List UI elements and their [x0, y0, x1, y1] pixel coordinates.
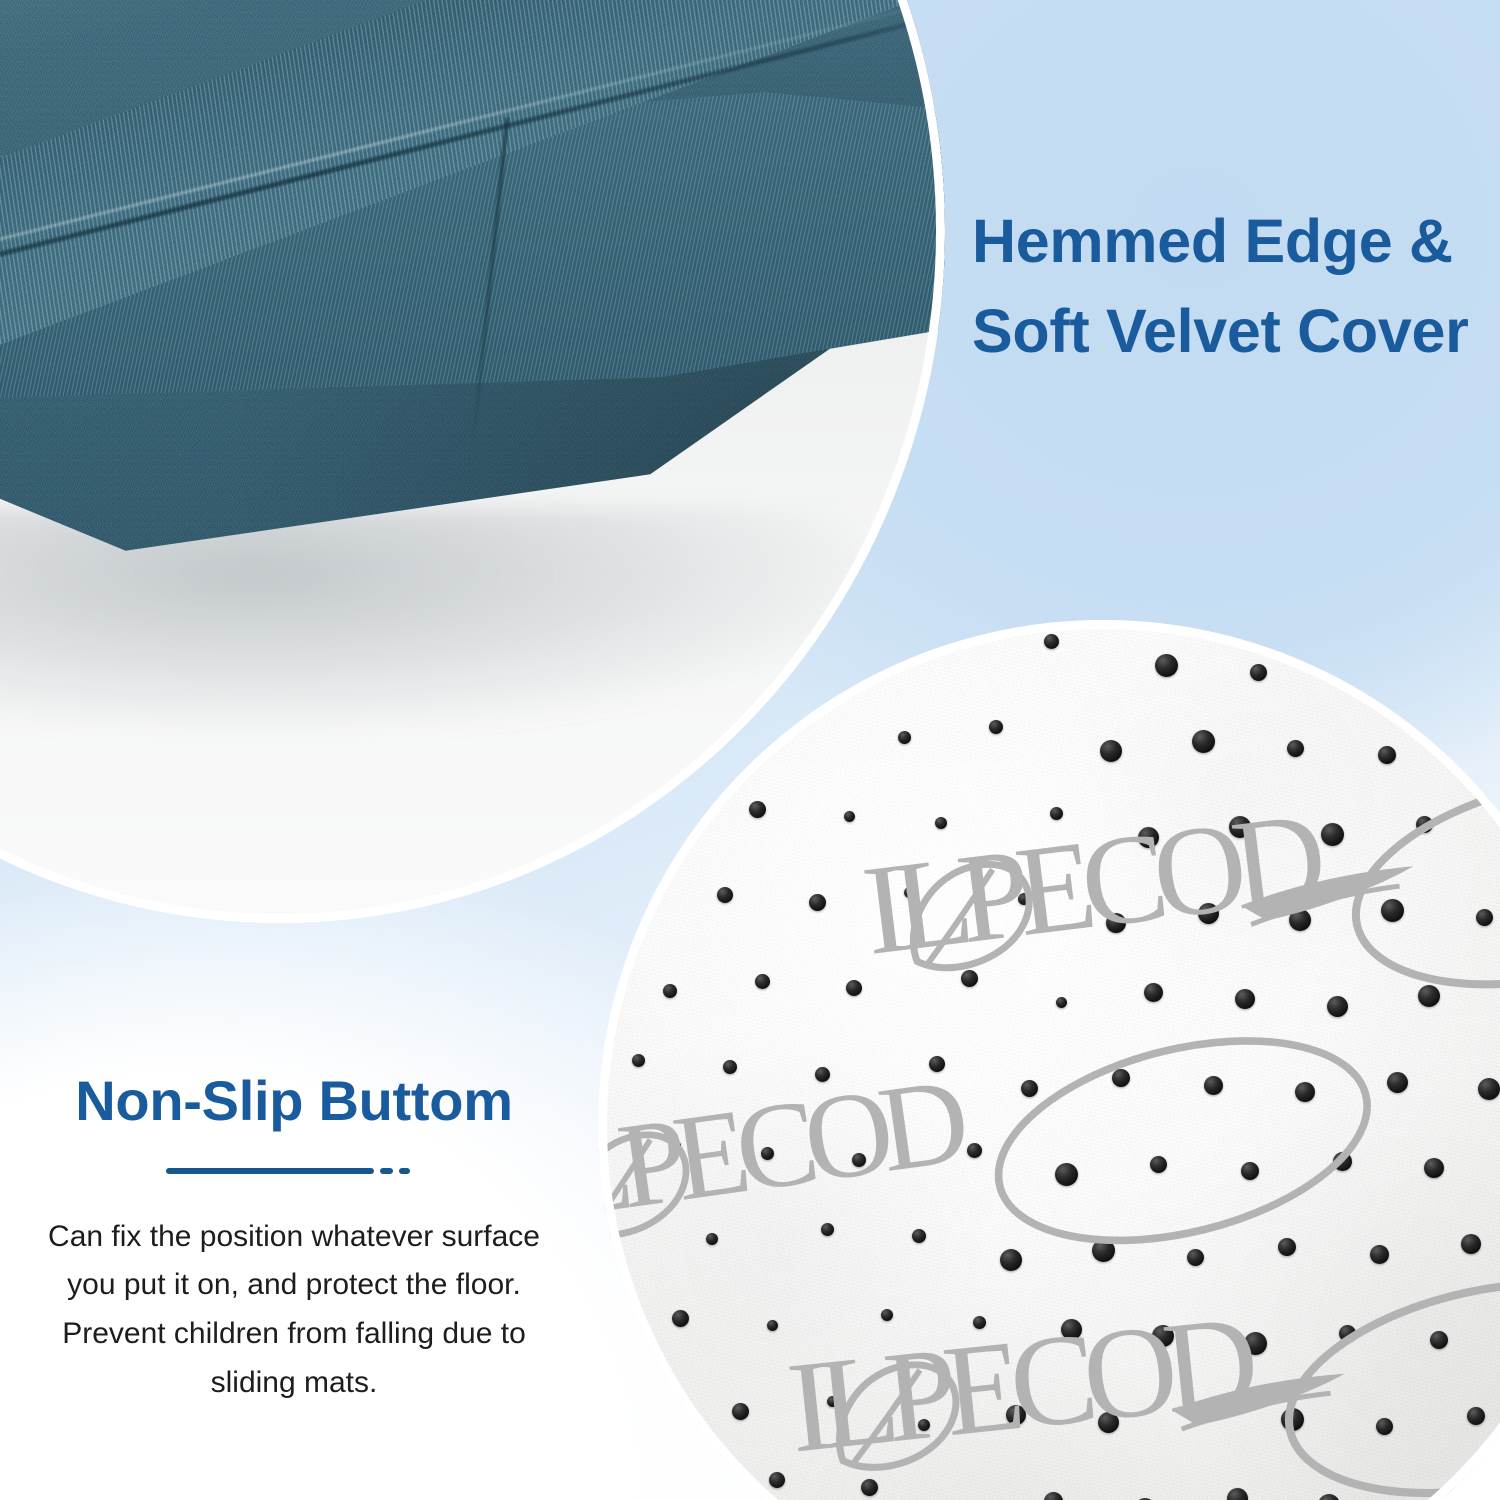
grip-dot — [1144, 983, 1163, 1002]
non-slip-body-line: you put it on, and protect the floor. — [67, 1268, 521, 1301]
non-slip-body-text: Can fix the position whatever surfaceyou… — [14, 1213, 574, 1407]
non-slip-mat-photo-circle: ILPECOD ILPECOD — [598, 620, 1500, 1500]
grip-dot — [846, 980, 862, 996]
hemmed-edge-heading-line1: Hemmed Edge & — [972, 207, 1453, 275]
divider-dash-2-icon — [399, 1168, 410, 1174]
grip-dot — [717, 887, 733, 903]
divider-line-icon — [166, 1168, 374, 1174]
grip-dot — [672, 1310, 689, 1327]
hemmed-edge-heading: Hemmed Edge & Soft Velvet Cover — [972, 196, 1492, 377]
grip-dot — [1370, 1245, 1389, 1264]
grip-dot — [935, 817, 947, 829]
grip-dot — [1478, 1078, 1500, 1100]
grip-dot — [844, 811, 855, 822]
mat-photo-scene: ILPECOD ILPECOD — [598, 620, 1500, 1500]
grip-dot — [912, 1229, 926, 1243]
grip-dot — [1100, 740, 1122, 762]
grip-dot — [1187, 1249, 1204, 1266]
grip-dot — [967, 1143, 982, 1158]
grip-dot — [1387, 1072, 1408, 1093]
grip-dot — [769, 1472, 785, 1488]
grip-dot — [1056, 997, 1067, 1008]
grip-dot — [1192, 730, 1215, 753]
grip-dot — [663, 984, 677, 998]
grip-dot — [1287, 740, 1304, 757]
hemmed-edge-heading-line2: Soft Velvet Cover — [972, 286, 1492, 376]
grip-dot — [881, 1309, 893, 1321]
divider — [14, 1157, 574, 1183]
divider-dash-1-icon — [380, 1168, 393, 1174]
non-slip-body-line: Can fix the position whatever surface — [48, 1220, 540, 1253]
grip-dot — [732, 1403, 749, 1420]
grip-dot — [1044, 634, 1059, 649]
grip-dot — [821, 1223, 834, 1236]
grip-dot — [809, 894, 826, 911]
grip-dot — [1424, 1158, 1444, 1178]
grip-dot — [749, 801, 766, 818]
grip-dot — [1155, 654, 1178, 677]
grip-dot — [632, 1054, 645, 1067]
product-feature-graphic: ILPECOD ILPECOD — [0, 0, 1500, 1500]
non-slip-body-line: sliding mats. — [211, 1366, 378, 1399]
grip-dot — [989, 720, 1003, 734]
grip-dot — [1461, 1234, 1481, 1254]
grip-dot — [723, 1060, 737, 1074]
grip-dot — [1250, 664, 1267, 681]
grip-dot — [1378, 746, 1396, 764]
grip-dot — [1044, 1492, 1063, 1500]
grip-dot — [1278, 1238, 1296, 1256]
grip-dot — [898, 731, 911, 744]
grip-dot — [755, 974, 770, 989]
non-slip-body-line: Prevent children from falling due to — [62, 1317, 526, 1350]
grip-dot — [767, 1320, 778, 1331]
non-slip-text-block: Non-Slip Buttom Can fix the position wha… — [14, 1070, 574, 1407]
non-slip-heading: Non-Slip Buttom — [14, 1070, 574, 1133]
